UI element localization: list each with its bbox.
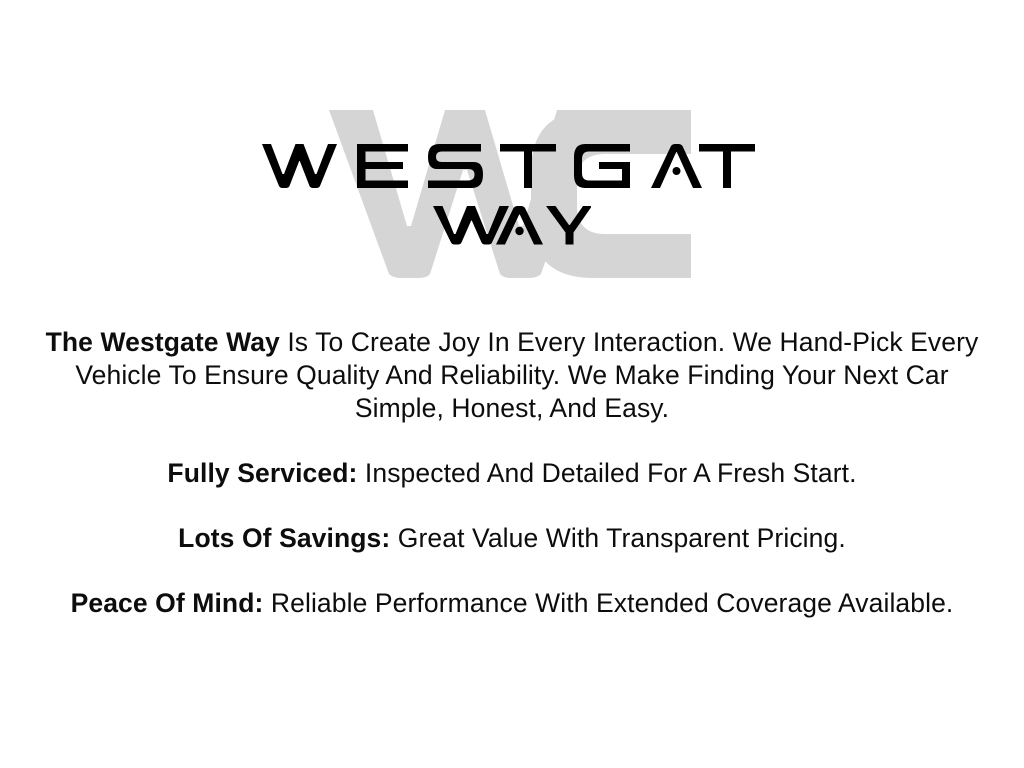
logo-wordmark-way <box>0 205 1024 257</box>
intro-lead: The Westgate Way <box>46 327 280 357</box>
feature-paragraph-fully-serviced: Fully Serviced: Inspected And Detailed F… <box>0 457 1024 490</box>
logo-wordmark-westgate <box>0 143 1024 199</box>
intro-paragraph: The Westgate Way Is To Create Joy In Eve… <box>0 326 1024 425</box>
feature-lead-fully-serviced: Fully Serviced: <box>167 458 357 488</box>
brand-logo-block <box>0 100 1024 285</box>
feature-rest-peace-of-mind: Reliable Performance With Extended Cover… <box>263 588 953 618</box>
body-copy: The Westgate Way Is To Create Joy In Eve… <box>0 326 1024 620</box>
feature-paragraph-lots-of-savings: Lots Of Savings: Great Value With Transp… <box>0 522 1024 555</box>
feature-rest-lots-of-savings: Great Value With Transparent Pricing. <box>390 523 845 553</box>
feature-lead-lots-of-savings: Lots Of Savings: <box>178 523 390 553</box>
feature-paragraph-peace-of-mind: Peace Of Mind: Reliable Performance With… <box>0 587 1024 620</box>
slide-canvas: The Westgate Way Is To Create Joy In Eve… <box>0 0 1024 768</box>
feature-rest-fully-serviced: Inspected And Detailed For A Fresh Start… <box>357 458 856 488</box>
feature-lead-peace-of-mind: Peace Of Mind: <box>71 588 264 618</box>
